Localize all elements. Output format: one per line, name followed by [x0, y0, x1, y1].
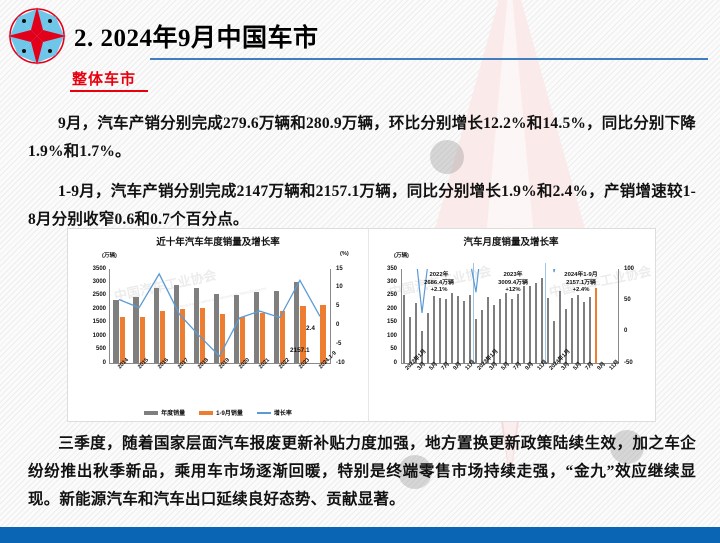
y-tick-label: 200 [368, 306, 397, 312]
chart-monthly-sales: 汽车月度销量及增长率 中国汽车工业协会 中国汽车工业协会 (万辆) 350300… [368, 229, 654, 421]
legend-swatch-blue [257, 412, 271, 414]
y-axis-unit: (万辆) [394, 251, 409, 259]
y-tick-label: 150 [368, 319, 397, 325]
title-underline [150, 58, 708, 60]
legend-item-ytd: 1-9月销量 [199, 408, 243, 417]
section-label: 整体车市 [72, 68, 136, 89]
paragraph-ytd: 1-9月，汽车产销分别完成2147万辆和2157.1万辆，同比分别增长1.9%和… [28, 178, 696, 234]
legend-item-annual: 年度销量 [144, 408, 185, 417]
y2-axis-line [330, 269, 331, 363]
chart-title: 汽车月度销量及增长率 [368, 234, 654, 248]
y-axis-unit: (万辆) [102, 251, 117, 259]
chart-title: 近十年汽车年度销量及增长率 [68, 234, 368, 248]
slide-header: 2. 2024年9月中国车市 [0, 0, 720, 66]
y-tick-label: 300 [368, 279, 397, 285]
legend-label: 增长率 [274, 408, 292, 417]
section-underline [70, 90, 148, 92]
y2-tick-label: 50 [624, 297, 650, 303]
y-tick-label: 2500 [72, 292, 106, 298]
y-tick-label: 1000 [72, 333, 106, 339]
legend-swatch-gray [144, 411, 158, 415]
legend-label: 年度销量 [161, 408, 185, 417]
slide-canvas: 2. 2024年9月中国车市 整体车市 9月，汽车产销分别完成279.6万辆和2… [0, 0, 720, 543]
y2-tick-label: 100 [624, 266, 650, 272]
y-tick-label: 3000 [72, 279, 106, 285]
charts-panel: 近十年汽车年度销量及增长率 中国汽车工业协会 China Association… [67, 228, 656, 422]
paragraph-text: 9月，汽车产销分别完成279.6万辆和280.9万辆，环比分别增长12.2%和1… [28, 115, 696, 160]
y-tick-label: 1500 [72, 319, 106, 325]
y-tick-label: 100 [368, 333, 397, 339]
y-tick-label: 250 [368, 292, 397, 298]
y2-tick-label: 5 [336, 303, 362, 309]
compass-rose-icon [6, 5, 68, 67]
legend-swatch-orange [199, 411, 213, 415]
legend-label: 1-9月销量 [216, 408, 243, 417]
y-tick-label: 500 [72, 346, 106, 352]
y2-tick-label: -50 [624, 360, 650, 366]
data-label-growth: 2.4 [306, 325, 315, 332]
y2-axis-unit: (%) [340, 251, 349, 257]
chart-annotation: 2022年 2686.4万辆 +2.1% [406, 272, 472, 295]
y2-tick-label: 0 [336, 322, 362, 328]
paragraph-september: 9月，汽车产销分别完成279.6万辆和280.9万辆，环比分别增长12.2%和1… [28, 110, 696, 166]
y-tick-label: 50 [368, 346, 397, 352]
y-tick-label: 350 [368, 266, 397, 272]
y-tick-label: 3500 [72, 266, 106, 272]
y-tick-label: 2000 [72, 306, 106, 312]
y2-tick-label: 0 [624, 328, 650, 334]
paragraph-text: 三季度，随着国家层面汽车报废更新补贴力度加强，地方置换更新政策陆续生效，加之车企… [28, 435, 696, 508]
chart-annual-sales: 近十年汽车年度销量及增长率 中国汽车工业协会 China Association… [68, 229, 369, 421]
y2-tick-label: 15 [336, 266, 362, 272]
footer-bar [0, 527, 720, 543]
page-title: 2. 2024年9月中国车市 [74, 18, 319, 54]
paragraph-text: 1-9月，汽车产销分别完成2147万辆和2157.1万辆，同比分别增长1.9%和… [28, 183, 696, 228]
chart-annotation: 2024年1-9月 2157.1万辆 +2.4% [548, 272, 614, 295]
y2-tick-label: 10 [336, 284, 362, 290]
chart-legend: 年度销量 1-9月销量 增长率 [68, 408, 368, 417]
y-tick-label: 0 [368, 360, 397, 366]
y2-tick-label: -10 [336, 360, 362, 366]
chart-annotation: 2023年 3009.4万辆 +12% [480, 272, 546, 295]
paragraph-q3-analysis: 三季度，随着国家层面汽车报废更新补贴力度加强，地方置换更新政策陆续生效，加之车企… [28, 430, 696, 514]
y-tick-label: 0 [72, 360, 106, 366]
legend-item-growth: 增长率 [257, 408, 292, 417]
y2-axis-line [618, 269, 619, 363]
y2-tick-label: -5 [336, 341, 362, 347]
data-label-ytd-total: 2157.1 [290, 347, 310, 354]
